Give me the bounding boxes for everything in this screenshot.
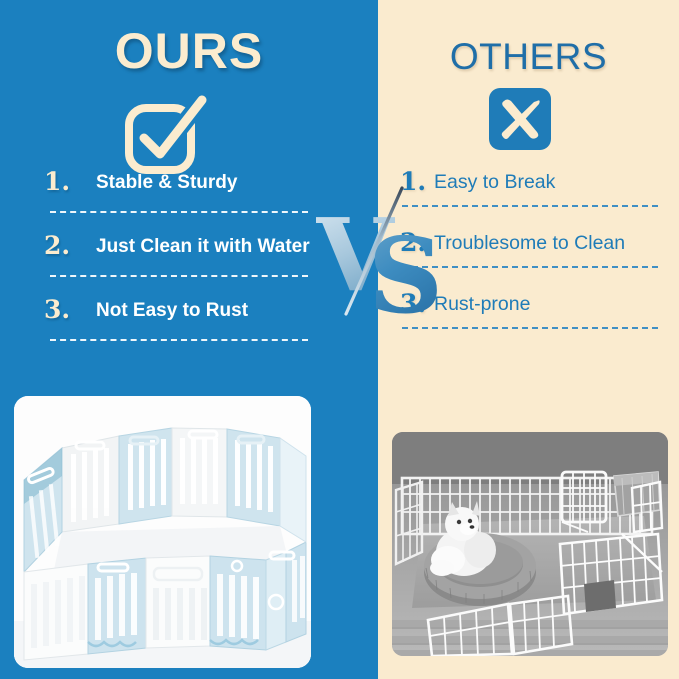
list-item-number: 3. <box>400 290 434 318</box>
list-item-number: 1. <box>400 168 434 196</box>
spacer <box>400 207 664 229</box>
list-item-number: 3. <box>44 296 96 324</box>
list-item-number: 1. <box>44 168 96 196</box>
check-box-icon <box>122 90 208 178</box>
spacer <box>400 268 664 290</box>
others-title: OTHERS <box>378 36 679 78</box>
divider <box>50 339 308 341</box>
list-item-label: Not Easy to Rust <box>96 296 248 323</box>
comparison-infographic: OURS OTHERS 1. Stable & Sturdy 2. Just C… <box>0 0 679 679</box>
list-item-label: Just Clean it with Water <box>96 232 310 259</box>
others-feature-list: 1. Easy to Break 2. Troublesome to Clean… <box>400 168 664 329</box>
list-item: 1. Stable & Sturdy <box>44 168 316 202</box>
others-product-photo <box>392 432 668 656</box>
list-item-number: 2. <box>400 229 434 257</box>
ours-feature-list: 1. Stable & Sturdy 2. Just Clean it with… <box>44 168 316 341</box>
list-item-label: Easy to Break <box>434 168 555 195</box>
list-item: 1. Easy to Break <box>400 168 664 196</box>
list-item: 2. Troublesome to Clean <box>400 229 664 257</box>
list-item-label: Rust-prone <box>434 290 530 317</box>
ours-product-photo <box>14 396 311 668</box>
list-item: 2. Just Clean it with Water <box>44 232 316 266</box>
ours-title: OURS <box>0 22 378 80</box>
spacer <box>44 277 316 296</box>
list-item-label: Troublesome to Clean <box>434 229 625 256</box>
list-item: 3. Not Easy to Rust <box>44 296 316 330</box>
x-mark-icon <box>487 86 553 152</box>
list-item: 3. Rust-prone <box>400 290 664 318</box>
spacer <box>44 213 316 232</box>
list-item-number: 2. <box>44 232 96 260</box>
divider <box>402 327 658 329</box>
list-item-label: Stable & Sturdy <box>96 168 237 195</box>
